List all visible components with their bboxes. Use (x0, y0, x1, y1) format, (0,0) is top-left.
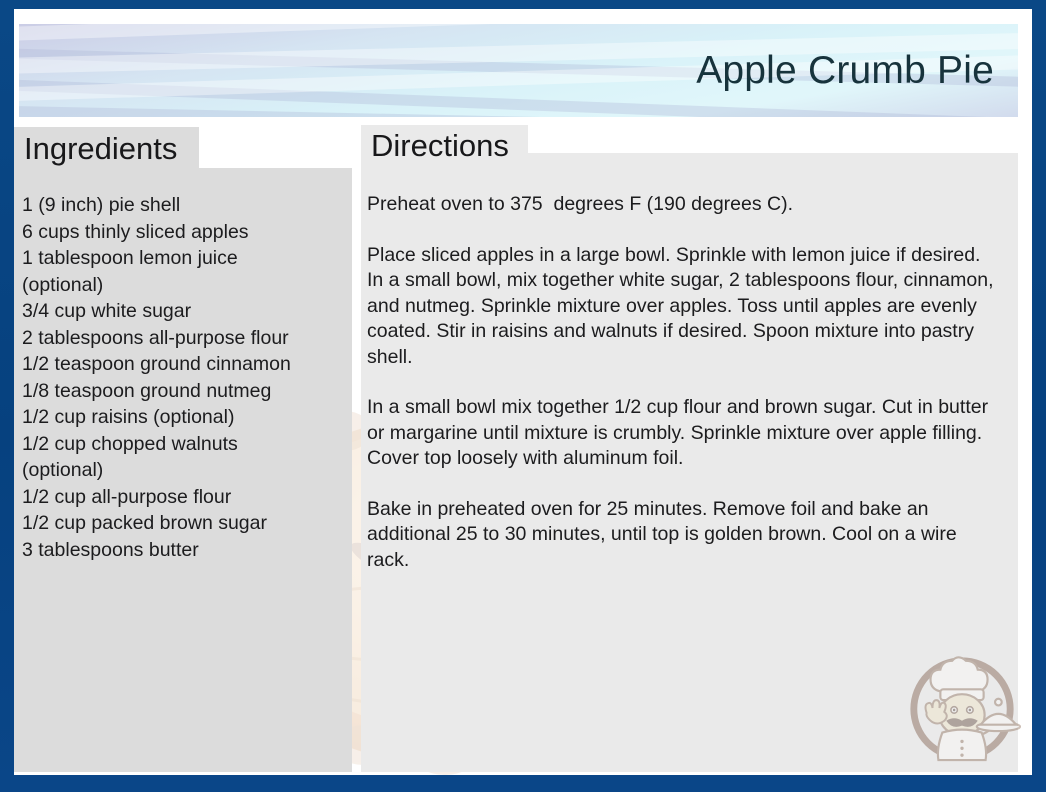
recipe-card: Apple Crumb Pie (0, 0, 1046, 792)
direction-paragraph: In a small bowl mix together 1/2 cup flo… (367, 395, 999, 472)
list-item: 3 tablespoons butter (22, 537, 348, 564)
list-item: (optional) (22, 457, 348, 484)
list-item: 2 tablespoons all-purpose flour (22, 325, 348, 352)
list-item: 1/2 cup raisins (optional) (22, 404, 348, 431)
directions-heading-tab: Directions (361, 125, 528, 165)
list-item: 3/4 cup white sugar (22, 298, 348, 325)
directions-text: Preheat oven to 375 degrees F (190 degre… (367, 192, 999, 573)
list-item: (optional) (22, 272, 348, 299)
recipe-title: Apple Crumb Pie (696, 49, 994, 93)
list-item: 6 cups thinly sliced apples (22, 219, 348, 246)
list-item: 1/8 teaspoon ground nutmeg (22, 378, 348, 405)
ingredients-heading: Ingredients (24, 133, 177, 164)
list-item: 1/2 teaspoon ground cinnamon (22, 351, 348, 378)
directions-heading: Directions (371, 130, 509, 161)
ingredients-list: 1 (9 inch) pie shell 6 cups thinly slice… (22, 192, 348, 563)
ingredients-heading-tab: Ingredients (14, 127, 199, 169)
list-item: 1/2 cup all-purpose flour (22, 484, 348, 511)
title-banner: Apple Crumb Pie (19, 24, 1018, 117)
direction-paragraph: Place sliced apples in a large bowl. Spr… (367, 243, 999, 371)
direction-paragraph: Bake in preheated oven for 25 minutes. R… (367, 497, 999, 574)
list-item: 1 (9 inch) pie shell (22, 192, 348, 219)
direction-paragraph: Preheat oven to 375 degrees F (190 degre… (367, 192, 999, 218)
list-item: 1 tablespoon lemon juice (22, 245, 348, 272)
list-item: 1/2 cup packed brown sugar (22, 510, 348, 537)
list-item: 1/2 cup chopped walnuts (22, 431, 348, 458)
